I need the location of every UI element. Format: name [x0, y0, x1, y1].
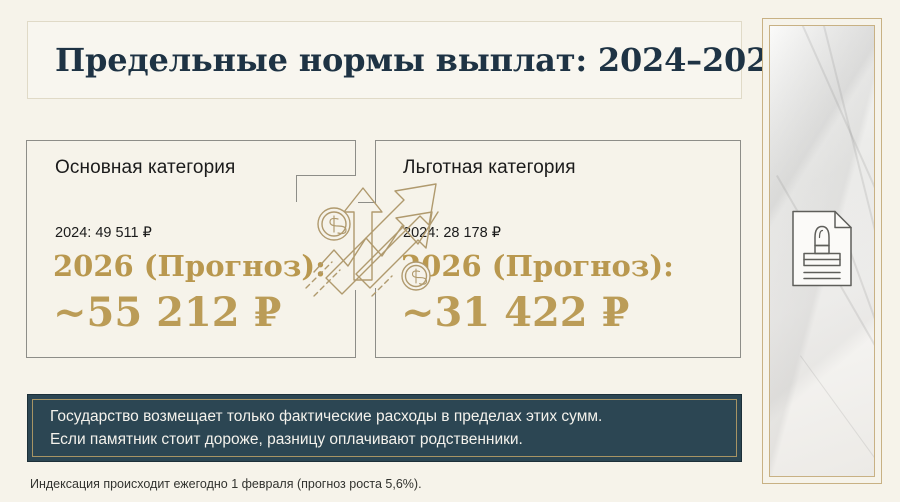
slide-root: Предельные нормы выплат: 2024–2026 Основ… [0, 0, 900, 502]
card-basic-border-notch-drop [296, 175, 297, 202]
card-basic-content: Основная категория 2024: 49 511 ₽ 2026 (… [27, 141, 356, 357]
card-privileged-base-amount: 2024: 28 178 ₽ [403, 225, 501, 241]
card-privileged-forecast-label: 2026 (Прогноз): [401, 249, 674, 283]
card-basic-border-notch-top [355, 140, 356, 175]
card-basic-border-notch-arm [296, 175, 356, 176]
card-privileged-border-top [375, 140, 376, 202]
category-cards: Основная категория 2024: 49 511 ₽ 2026 (… [0, 140, 760, 360]
card-basic-forecast-label: 2026 (Прогноз): [53, 249, 326, 283]
card-privileged-content: Льготная категория 2024: 28 178 ₽ 2026 (… [375, 141, 740, 357]
marble-vein [800, 355, 875, 477]
page-title: Предельные нормы выплат: 2024–2026 [28, 41, 790, 79]
card-basic-forecast-value: ~55 212 ₽ [53, 289, 281, 336]
card-basic-category[interactable]: Основная категория 2024: 49 511 ₽ 2026 (… [26, 140, 356, 358]
card-basic-border-bottom-segment [355, 290, 356, 358]
document-with-stamp-icon [789, 208, 855, 295]
card-privileged-border-arm [358, 202, 376, 203]
card-privileged-border-bottom [375, 288, 376, 358]
note-banner: Государство возмещает только фактические… [27, 394, 742, 462]
card-privileged-heading: Льготная категория [403, 157, 740, 179]
card-basic-base-amount: 2024: 49 511 ₽ [55, 225, 152, 241]
note-line-2: Если памятник стоит дороже, разницу опла… [50, 428, 736, 451]
title-box: Предельные нормы выплат: 2024–2026 [27, 21, 742, 99]
marble-side-panel [762, 18, 882, 484]
marble-side-panel-inner [769, 25, 875, 477]
footnote-caption: Индексация происходит ежегодно 1 февраля… [30, 477, 422, 491]
card-privileged-forecast-value: ~31 422 ₽ [401, 289, 629, 336]
card-privileged-category[interactable]: Льготная категория 2024: 28 178 ₽ 2026 (… [375, 140, 741, 358]
note-banner-inner: Государство возмещает только фактические… [32, 399, 737, 457]
note-line-1: Государство возмещает только фактические… [50, 405, 736, 428]
